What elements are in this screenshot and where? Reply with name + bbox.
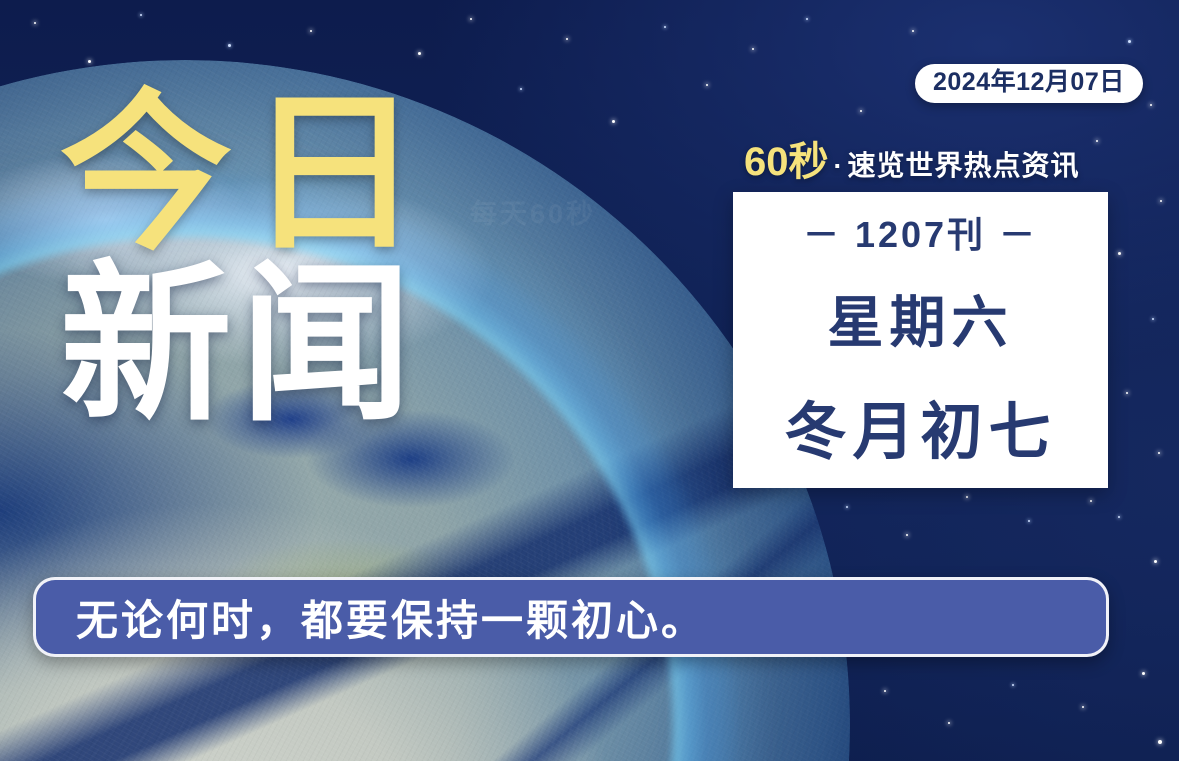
quote-text: 无论何时，都要保持一颗初心。 (76, 587, 706, 648)
watermark-text: 每天60秒 (470, 192, 596, 231)
issue-number: － 1207刊 － (803, 206, 1038, 258)
quote-bar: 无论何时，都要保持一颗初心。 (33, 577, 1109, 657)
brand-title-line1: 今日 (60, 92, 436, 257)
weekday-label: 星期六 (828, 278, 1014, 359)
tagline: 60秒·速览世界热点资讯 (744, 142, 1080, 182)
brand-title: 今日 新闻 (60, 92, 436, 428)
issue-info-card: － 1207刊 － 星期六 冬月初七 (733, 192, 1108, 488)
news-poster: 每天60秒 2024年12月07日 今日 新闻 60秒·速览世界热点资讯 － 1… (0, 0, 1179, 761)
tagline-separator: · (834, 151, 843, 181)
date-badge: 2024年12月07日 (915, 64, 1143, 103)
lunar-date: 冬月初七 (784, 381, 1056, 471)
tagline-seconds: 60秒 (744, 140, 829, 184)
tagline-text: 速览世界热点资讯 (848, 150, 1080, 181)
brand-title-line2: 新闻 (60, 263, 436, 428)
